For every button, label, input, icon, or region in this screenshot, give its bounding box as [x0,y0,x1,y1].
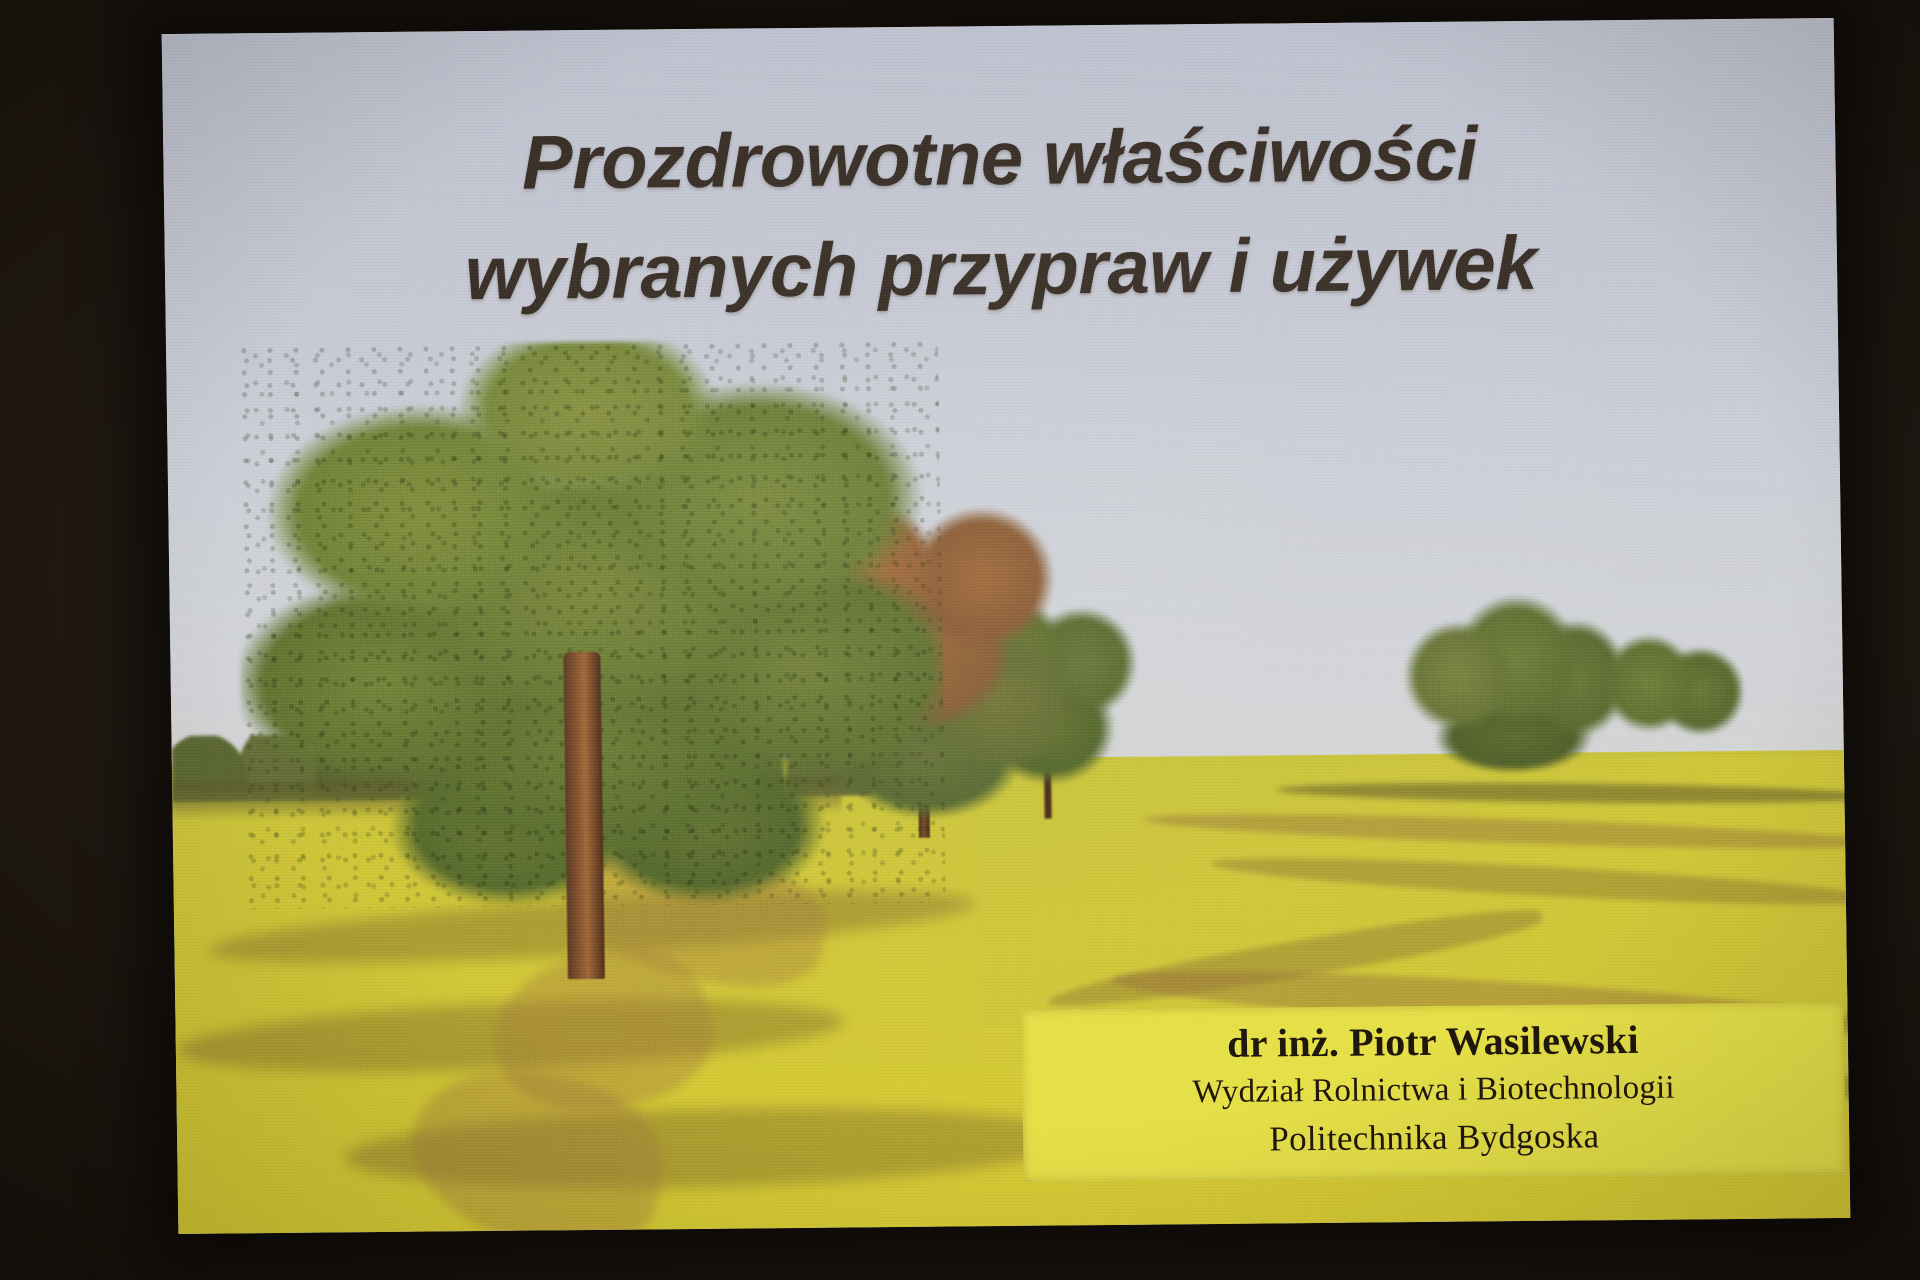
right-horizon-tree-small [1591,619,1743,764]
slide-title-line-1: Prozdrowotne właściwości [296,97,1702,221]
tree-canopy [1591,619,1743,764]
author-caption-box: dr inż. Piotr Wasilewski Wydział Rolnict… [1021,1002,1846,1182]
slide-title-line-2: wybranych przypraw i używek [298,207,1704,331]
slide-canvas: Prozdrowotne właściwości wybranych przyp… [162,18,1851,1234]
slide-title: Prozdrowotne właściwości wybranych przyp… [296,97,1703,331]
foreground-oak-tree [236,339,946,910]
tree-trunk [564,652,605,979]
projected-slide: Prozdrowotne właściwości wybranych przyp… [162,18,1851,1234]
author-university: Politechnika Bydgoska [1037,1110,1832,1166]
author-name: dr inż. Piotr Wasilewski [1036,1012,1831,1071]
projection-room-background: Prozdrowotne właściwości wybranych przyp… [0,0,1920,1280]
author-faculty: Wydział Rolnictwa i Biotechnologii [1036,1063,1831,1117]
